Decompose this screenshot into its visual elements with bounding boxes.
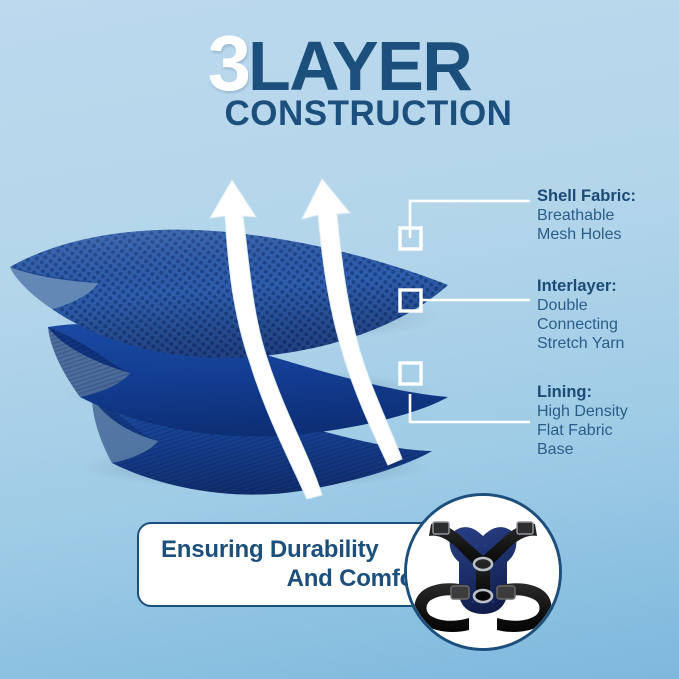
title-word: LAYER (248, 34, 471, 98)
callout-line-1: High Density (537, 403, 677, 422)
tagline-line-2: And Comfort (161, 565, 431, 594)
infographic-canvas: 3 LAYER CONSTRUCTION (0, 0, 679, 679)
title-primary-line: 3 LAYER (0, 28, 679, 100)
fabric-layers-illustration (0, 175, 470, 505)
callout-shell-fabric: Shell Fabric: Breathable Mesh Holes (537, 187, 677, 245)
callout-line-2: Connecting (537, 316, 677, 335)
title-number: 3 (208, 28, 248, 100)
callout-heading: Interlayer: (537, 277, 677, 296)
callout-line-3: Stretch Yarn (537, 335, 677, 354)
product-image-circle (404, 493, 562, 651)
callout-heading: Lining: (537, 383, 677, 402)
callout-line-2: Mesh Holes (537, 226, 677, 245)
callout-line-2: Flat Fabric (537, 422, 677, 441)
callout-line-3: Base (537, 441, 677, 460)
callout-lining: Lining: High Density Flat Fabric Base (537, 383, 677, 459)
callout-heading: Shell Fabric: (537, 187, 677, 206)
dog-harness-icon (407, 496, 559, 648)
callout-line-1: Breathable (537, 207, 677, 226)
callout-line-1: Double (537, 297, 677, 316)
title-subtitle: CONSTRUCTION (0, 94, 679, 134)
tagline-line-1: Ensuring Durability (161, 536, 431, 565)
callout-interlayer: Interlayer: Double Connecting Stretch Ya… (537, 277, 677, 353)
page-title: 3 LAYER CONSTRUCTION (0, 28, 679, 134)
